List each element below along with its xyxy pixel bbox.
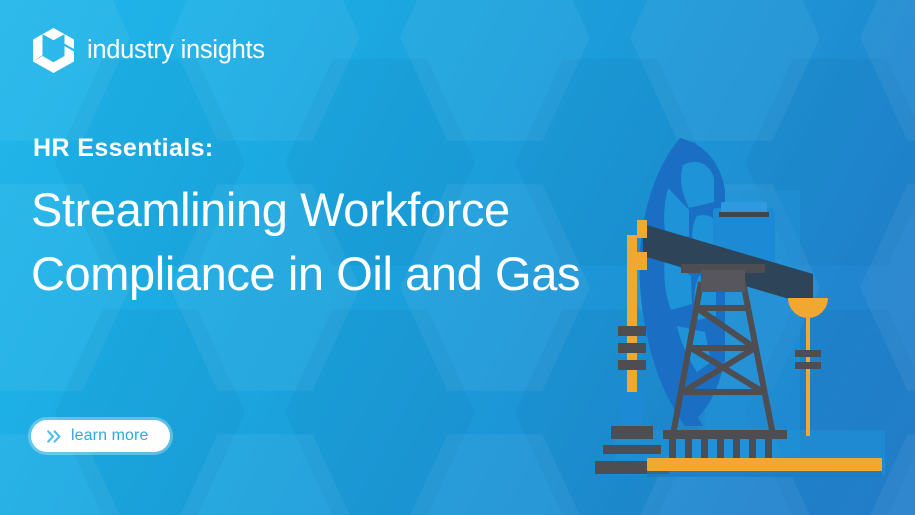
brand-name: industry insights xyxy=(87,36,265,65)
page-title: Streamlining Workforce Compliance in Oil… xyxy=(31,178,580,306)
double-chevron-right-icon xyxy=(47,430,62,443)
oil-pumpjack-illustration xyxy=(585,130,915,485)
hexagon-logo-icon xyxy=(33,28,74,73)
learn-more-button[interactable]: learn more xyxy=(31,420,170,452)
promo-banner: industry insights HR Essentials: Streaml… xyxy=(0,0,915,515)
eyebrow-text: HR Essentials: xyxy=(33,134,214,163)
learn-more-label: learn more xyxy=(71,427,148,445)
brand-logo[interactable]: industry insights xyxy=(33,28,265,73)
